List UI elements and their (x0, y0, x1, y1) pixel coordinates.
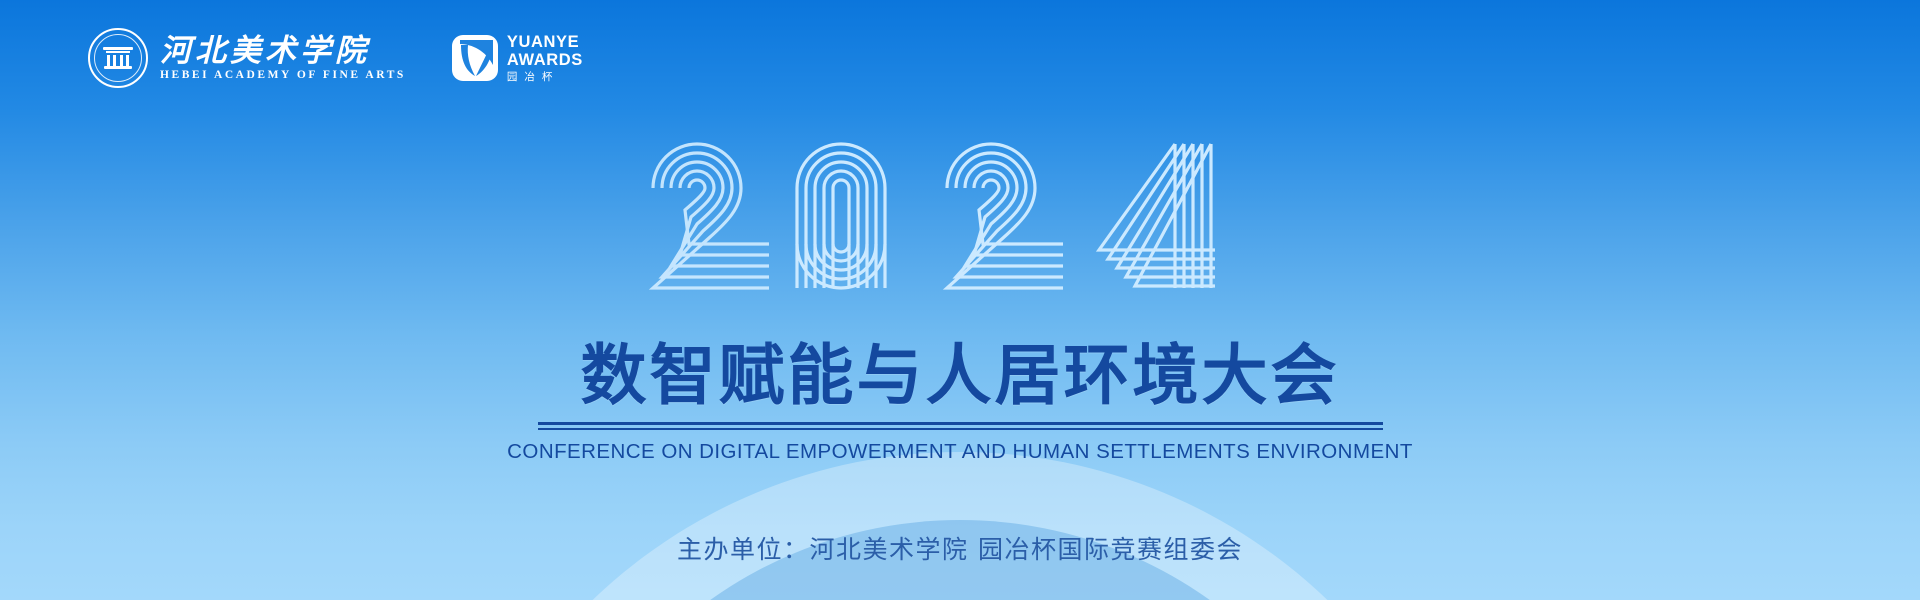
organizer-line: 主办单位：河北美术学院 园冶杯国际竞赛组委会 (0, 530, 1920, 566)
yuanye-wordmark: YUANYE AWARDS 园冶杯 (507, 34, 583, 83)
hebei-academy-logo: 河北美术学院 HEBEI ACADEMY OF FINE ARTS (88, 28, 406, 88)
year-graphic (0, 136, 1920, 306)
divider-rule-2 (538, 428, 1383, 431)
decorative-arc-outer (430, 452, 1490, 600)
logo-row: 河北美术学院 HEBEI ACADEMY OF FINE ARTS YUANYE… (88, 28, 583, 88)
academy-name-en: HEBEI ACADEMY OF FINE ARTS (160, 69, 406, 81)
yuanye-line3-cn: 园冶杯 (507, 72, 583, 83)
academy-name-group: 河北美术学院 HEBEI ACADEMY OF FINE ARTS (160, 35, 406, 82)
academy-name-cn: 河北美术学院 (160, 35, 406, 68)
gate-building-icon (103, 47, 133, 69)
divider-rule-1 (538, 422, 1383, 425)
yuanye-awards-logo: YUANYE AWARDS 园冶杯 (452, 34, 583, 83)
conference-title-cn: 数智赋能与人居环境大会 (581, 340, 1340, 411)
yuanye-line1: YUANYE (507, 34, 583, 51)
yuanye-line2: AWARDS (507, 52, 583, 69)
hebei-academy-seal-icon (88, 28, 148, 88)
yuanye-swoosh-icon (452, 35, 498, 81)
title-divider (538, 422, 1383, 430)
title-block: 数智赋能与人居环境大会 CONFERENCE ON DIGITAL EMPOWE… (0, 340, 1920, 464)
conference-title-en: CONFERENCE ON DIGITAL EMPOWERMENT AND HU… (507, 440, 1413, 464)
conference-banner: 河北美术学院 HEBEI ACADEMY OF FINE ARTS YUANYE… (0, 0, 1920, 600)
